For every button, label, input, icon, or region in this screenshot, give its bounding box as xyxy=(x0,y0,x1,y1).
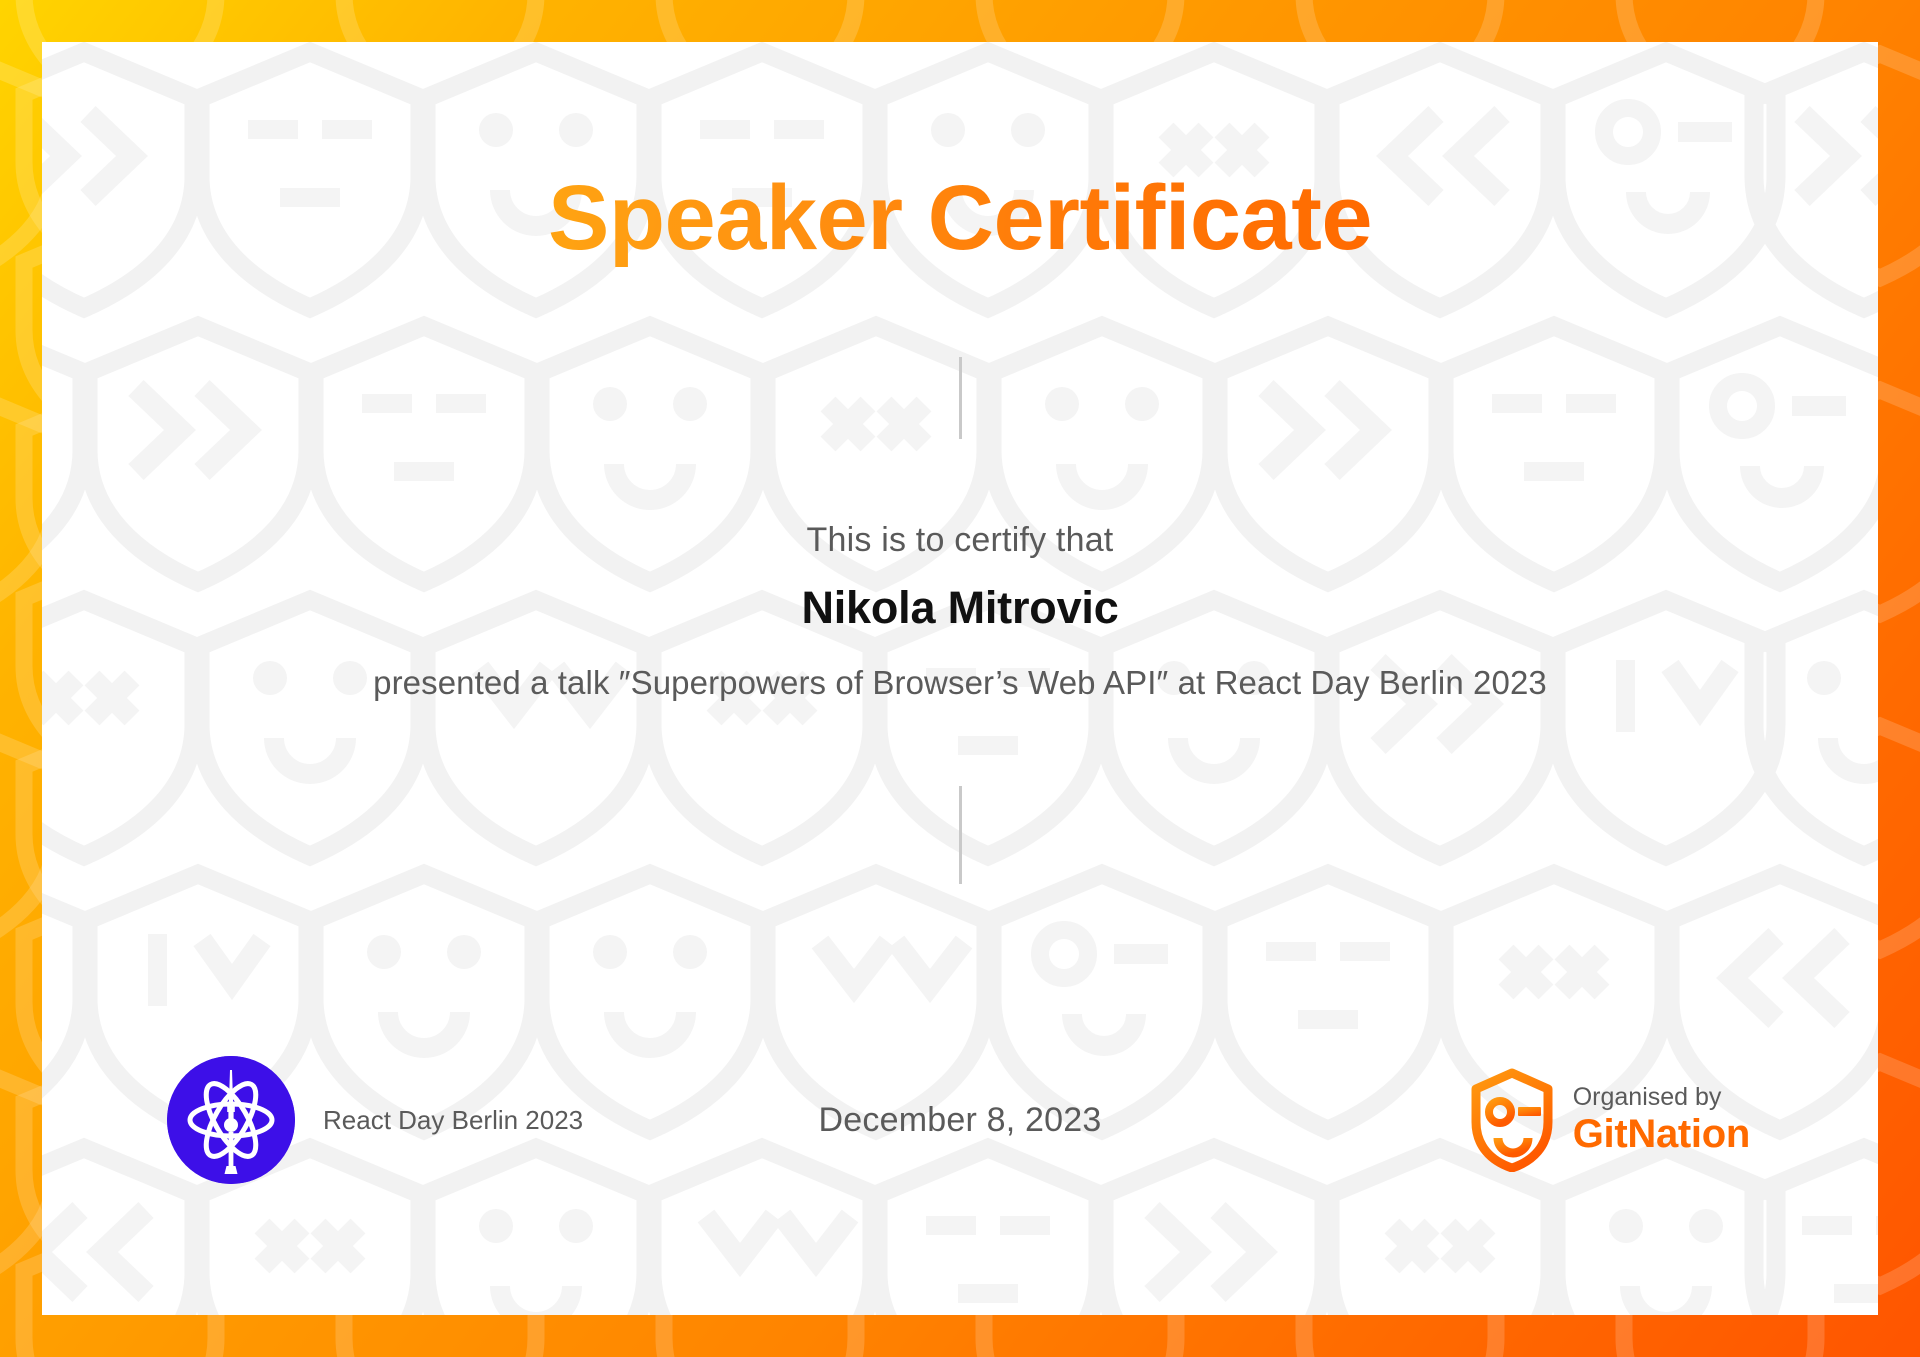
organiser-name: GitNation xyxy=(1573,1111,1750,1157)
recipient-name: Nikola Mitrovic xyxy=(801,582,1118,634)
certificate: Speaker Certificate This is to certify t… xyxy=(0,0,1920,1357)
talk-description: presented a talk ″Superpowers of Browser… xyxy=(373,664,1547,702)
gitnation-shield-face-icon xyxy=(1469,1068,1555,1172)
divider-top xyxy=(959,357,962,439)
page-title: Speaker Certificate xyxy=(548,170,1372,267)
organiser-text: Organised by GitNation xyxy=(1573,1083,1750,1158)
certificate-page: Speaker Certificate This is to certify t… xyxy=(42,42,1878,1315)
certificate-footer: React Day Berlin 2023 December 8, 2023 xyxy=(42,1055,1878,1185)
certify-line: This is to certify that xyxy=(807,521,1114,560)
certificate-date: December 8, 2023 xyxy=(819,1101,1102,1140)
divider-bottom xyxy=(959,786,962,884)
organiser-branding: Organised by GitNation xyxy=(1469,1055,1750,1185)
organised-by-label: Organised by xyxy=(1573,1083,1750,1112)
